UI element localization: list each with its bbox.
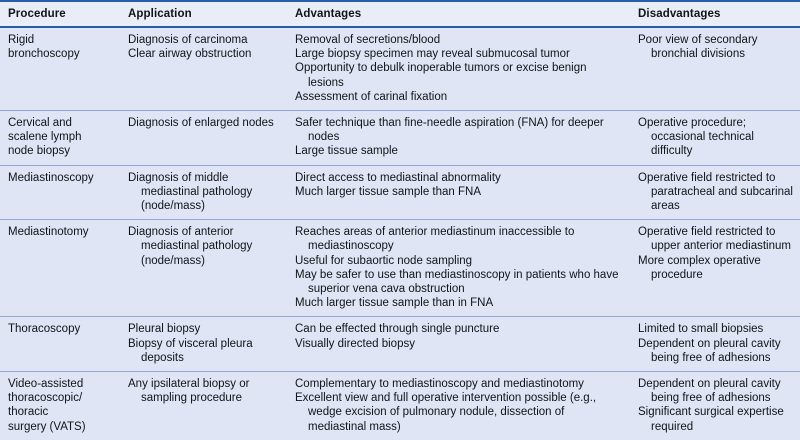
cell-advantages: Removal of secretions/bloodLarge biopsy … <box>287 27 630 111</box>
cell-application: Diagnosis of middle mediastinal patholog… <box>120 165 287 220</box>
cell-line: bronchoscopy <box>8 47 114 61</box>
table-row: Cervical andscalene lymphnode biopsyDiag… <box>0 111 800 166</box>
table-row: Video-assistedthoracoscopic/thoracicsurg… <box>0 372 800 440</box>
column-header-advantages: Advantages <box>287 2 630 27</box>
cell-disadvantages: Operative procedure; occasional technica… <box>630 111 800 166</box>
cell-line: Thoracoscopy <box>8 322 114 336</box>
column-header-disadvantages: Disadvantages <box>630 2 800 27</box>
cell-application: Diagnosis of carcinomaClear airway obstr… <box>120 27 287 111</box>
cell-line: Mediastinoscopy <box>8 171 114 185</box>
cell-line: Operative procedure; occasional technica… <box>638 116 794 159</box>
cell-line: node biopsy <box>8 144 114 158</box>
cell-line: Visually directed biopsy <box>295 337 624 351</box>
cell-procedure: Mediastinotomy <box>0 220 120 317</box>
cell-line: surgery (VATS) <box>8 420 114 434</box>
cell-line: Any ipsilateral biopsy or sampling proce… <box>128 377 281 405</box>
cell-line: Reaches areas of anterior mediastinum in… <box>295 225 624 253</box>
cell-line: Diagnosis of enlarged nodes <box>128 116 281 130</box>
cell-advantages: Can be effected through single punctureV… <box>287 317 630 372</box>
cell-line: Video-assisted <box>8 377 114 391</box>
cell-disadvantages: Limited to small biopsiesDependent on pl… <box>630 317 800 372</box>
cell-line: Opportunity to debulk inoperable tumors … <box>295 61 624 89</box>
cell-advantages: Complementary to mediastinoscopy and med… <box>287 372 630 440</box>
cell-line: Removal of secretions/blood <box>295 33 624 47</box>
cell-line: Significant surgical expertise required <box>638 405 794 433</box>
comparison-table: Procedure Application Advantages Disadva… <box>0 2 800 440</box>
cell-line: Operative field restricted to upper ante… <box>638 225 794 253</box>
table-row: MediastinotomyDiagnosis of anterior medi… <box>0 220 800 317</box>
column-header-application: Application <box>120 2 287 27</box>
cell-line: Diagnosis of carcinoma <box>128 33 281 47</box>
cell-line: Useful for subaortic node sampling <box>295 254 624 268</box>
cell-application: Diagnosis of enlarged nodes <box>120 111 287 166</box>
cell-line: Assessment of carinal fixation <box>295 90 624 104</box>
cell-disadvantages: Poor view of secondary bronchial divisio… <box>630 27 800 111</box>
cell-line: Large biopsy specimen may reveal submuco… <box>295 47 624 61</box>
cell-procedure: Cervical andscalene lymphnode biopsy <box>0 111 120 166</box>
cell-procedure: Video-assistedthoracoscopic/thoracicsurg… <box>0 372 120 440</box>
cell-procedure: Thoracoscopy <box>0 317 120 372</box>
table-row: MediastinoscopyDiagnosis of middle media… <box>0 165 800 220</box>
cell-disadvantages: Operative field restricted to paratrache… <box>630 165 800 220</box>
cell-line: Pleural biopsy <box>128 322 281 336</box>
cell-disadvantages: Dependent on pleural cavity being free o… <box>630 372 800 440</box>
cell-application: Diagnosis of anterior mediastinal pathol… <box>120 220 287 317</box>
cell-line: Diagnosis of anterior mediastinal pathol… <box>128 225 281 268</box>
cell-procedure: Mediastinoscopy <box>0 165 120 220</box>
cell-advantages: Reaches areas of anterior mediastinum in… <box>287 220 630 317</box>
cell-line: Dependent on pleural cavity being free o… <box>638 377 794 405</box>
cell-application: Any ipsilateral biopsy or sampling proce… <box>120 372 287 440</box>
cell-line: Biopsy of visceral pleura deposits <box>128 337 281 365</box>
cell-line: scalene lymph <box>8 130 114 144</box>
table-row: ThoracoscopyPleural biopsyBiopsy of visc… <box>0 317 800 372</box>
cell-line: Poor view of secondary bronchial divisio… <box>638 33 794 61</box>
table-header: Procedure Application Advantages Disadva… <box>0 2 800 27</box>
procedure-comparison-table: Procedure Application Advantages Disadva… <box>0 0 800 431</box>
cell-line: thoracic <box>8 405 114 419</box>
cell-line: Complementary to mediastinoscopy and med… <box>295 377 624 391</box>
table-header-row: Procedure Application Advantages Disadva… <box>0 2 800 27</box>
cell-line: Much larger tissue sample than FNA <box>295 185 624 199</box>
cell-line: More complex operative procedure <box>638 254 794 282</box>
cell-advantages: Safer technique than fine-needle aspirat… <box>287 111 630 166</box>
cell-line: Excellent view and full operative interv… <box>295 391 624 434</box>
cell-line: Rigid <box>8 33 114 47</box>
cell-disadvantages: Operative field restricted to upper ante… <box>630 220 800 317</box>
cell-line: Mediastinotomy <box>8 225 114 239</box>
cell-line: Much larger tissue sample than in FNA <box>295 296 624 310</box>
cell-line: Diagnosis of middle mediastinal patholog… <box>128 171 281 214</box>
cell-line: Cervical and <box>8 116 114 130</box>
table-body: RigidbronchoscopyDiagnosis of carcinomaC… <box>0 27 800 440</box>
cell-application: Pleural biopsyBiopsy of visceral pleura … <box>120 317 287 372</box>
cell-line: Large tissue sample <box>295 144 624 158</box>
cell-advantages: Direct access to mediastinal abnormality… <box>287 165 630 220</box>
cell-line: Safer technique than fine-needle aspirat… <box>295 116 624 144</box>
cell-line: May be safer to use than mediastinoscopy… <box>295 268 624 296</box>
cell-procedure: Rigidbronchoscopy <box>0 27 120 111</box>
cell-line: Can be effected through single puncture <box>295 322 624 336</box>
cell-line: Dependent on pleural cavity being free o… <box>638 337 794 365</box>
column-header-procedure: Procedure <box>0 2 120 27</box>
cell-line: Operative field restricted to paratrache… <box>638 171 794 214</box>
table-row: RigidbronchoscopyDiagnosis of carcinomaC… <box>0 27 800 111</box>
cell-line: thoracoscopic/ <box>8 391 114 405</box>
cell-line: Clear airway obstruction <box>128 47 281 61</box>
cell-line: Direct access to mediastinal abnormality <box>295 171 624 185</box>
cell-line: Limited to small biopsies <box>638 322 794 336</box>
